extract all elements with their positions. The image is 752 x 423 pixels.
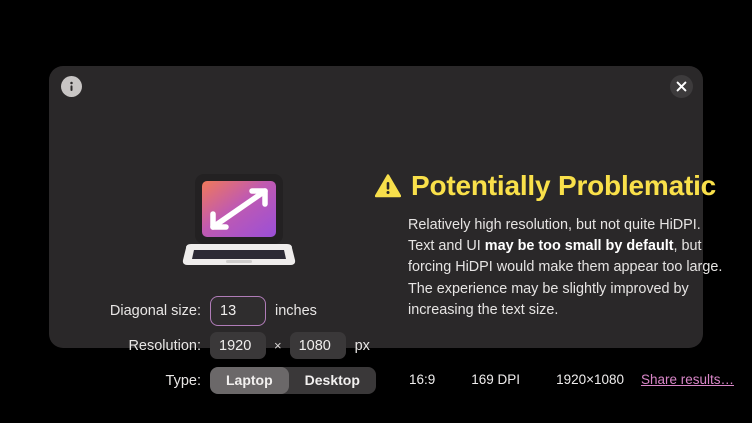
diagonal-size-input[interactable] <box>210 296 266 326</box>
resolution-label: Resolution: <box>109 338 210 354</box>
stat-aspect-ratio: 16:9 <box>409 372 435 387</box>
type-option-desktop[interactable]: Desktop <box>289 367 376 394</box>
close-button[interactable] <box>670 75 693 98</box>
resolution-unit: px <box>355 338 370 354</box>
resolution-row: Resolution: × px <box>109 329 376 362</box>
verdict-description-emphasis: may be too small by default <box>485 238 674 254</box>
stats-row: 16:9 169 DPI 1920×1080 Share results… <box>409 372 734 387</box>
warning-triangle-icon <box>375 174 401 198</box>
resolution-width-input[interactable] <box>210 332 266 359</box>
stat-resolution: 1920×1080 <box>556 372 624 387</box>
close-icon <box>676 81 687 92</box>
verdict-description: Relatively high resolution, but not quit… <box>408 215 726 321</box>
type-segmented-control: Laptop Desktop <box>210 367 376 394</box>
verdict-headline: Potentially Problematic <box>375 170 733 202</box>
info-button[interactable] <box>61 76 82 97</box>
diagonal-size-row: Diagonal size: inches <box>109 294 376 327</box>
type-option-laptop[interactable]: Laptop <box>210 367 289 394</box>
laptop-diagonal-icon <box>180 170 298 270</box>
app-screen: Diagonal size: inches Resolution: × px T… <box>0 0 752 423</box>
verdict-section: Potentially Problematic Relatively high … <box>375 170 733 321</box>
info-icon <box>65 80 78 93</box>
diagonal-size-label: Diagonal size: <box>109 303 210 319</box>
stat-dpi: 169 DPI <box>471 372 520 387</box>
dialog-panel: Diagonal size: inches Resolution: × px T… <box>49 66 703 348</box>
type-label: Type: <box>109 373 210 389</box>
share-results-link[interactable]: Share results… <box>641 372 734 387</box>
type-row: Type: Laptop Desktop <box>109 364 376 397</box>
settings-form: Diagonal size: inches Resolution: × px T… <box>109 294 376 399</box>
resolution-height-input[interactable] <box>290 332 346 359</box>
verdict-title: Potentially Problematic <box>411 170 716 202</box>
diagonal-size-unit: inches <box>275 303 317 319</box>
resolution-separator: × <box>274 338 282 353</box>
